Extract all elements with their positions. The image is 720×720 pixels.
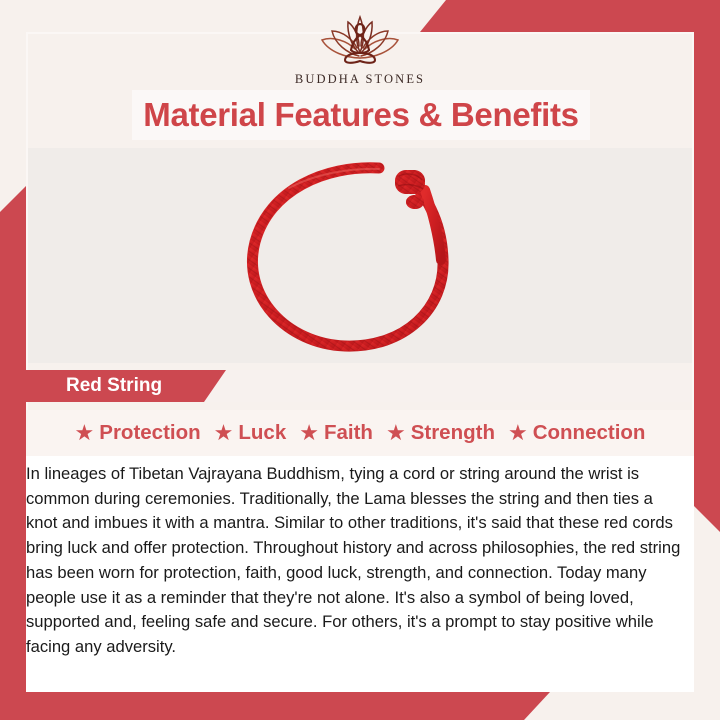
decorative-band-left bbox=[0, 186, 26, 706]
star-icon: ★ bbox=[214, 422, 234, 444]
feature-label: Protection bbox=[99, 421, 200, 445]
feature-list: ★ Protection ★ Luck ★ Faith ★ Strength ★… bbox=[26, 410, 694, 456]
decorative-band-bottom bbox=[0, 692, 550, 720]
description-panel: In lineages of Tibetan Vajrayana Buddhis… bbox=[26, 456, 694, 692]
brand-name: BUDDHA STONES bbox=[295, 72, 425, 87]
feature-label: Connection bbox=[533, 421, 646, 445]
feature-item-connection: ★ Connection bbox=[508, 421, 645, 445]
decorative-band-right bbox=[694, 32, 720, 532]
feature-item-strength: ★ Strength bbox=[386, 421, 495, 445]
feature-label: Luck bbox=[238, 421, 286, 445]
description-text: In lineages of Tibetan Vajrayana Buddhis… bbox=[26, 462, 688, 660]
feature-label: Faith bbox=[324, 421, 373, 445]
feature-item-luck: ★ Luck bbox=[214, 421, 287, 445]
feature-label: Strength bbox=[411, 421, 495, 445]
star-icon: ★ bbox=[299, 422, 319, 444]
brand-logo-block: BUDDHA STONES bbox=[0, 12, 720, 87]
page-title: Material Features & Benefits bbox=[143, 96, 578, 134]
product-label-ribbon: Red String bbox=[26, 370, 226, 402]
lotus-meditation-icon bbox=[317, 12, 403, 70]
product-photo-area bbox=[28, 148, 692, 363]
star-icon: ★ bbox=[386, 422, 406, 444]
feature-item-faith: ★ Faith bbox=[299, 421, 373, 445]
feature-item-protection: ★ Protection bbox=[75, 421, 201, 445]
title-banner: Material Features & Benefits bbox=[132, 90, 590, 140]
star-icon: ★ bbox=[75, 422, 95, 444]
product-label-text: Red String bbox=[26, 375, 162, 397]
star-icon: ★ bbox=[508, 422, 528, 444]
